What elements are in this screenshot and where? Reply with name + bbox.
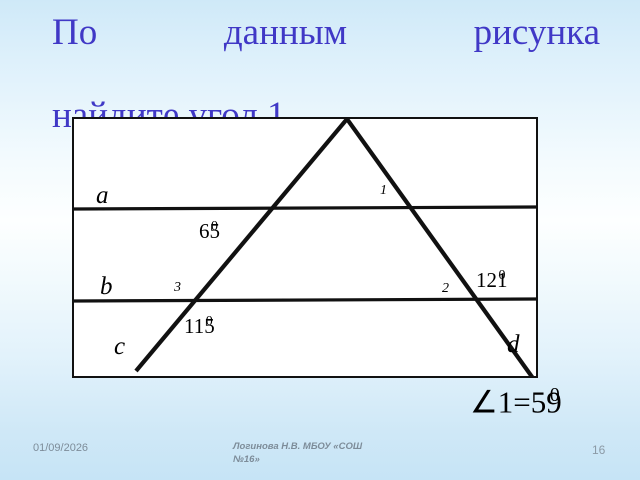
angle-label-2: 2 — [442, 282, 449, 296]
degree-symbol: 0 — [211, 219, 218, 234]
geometry-figure-svg — [74, 119, 536, 376]
degree-symbol: 0 — [550, 384, 560, 406]
line-label-c: c — [114, 334, 125, 359]
answer-angle-sign: ∠ — [470, 384, 498, 419]
line-b — [74, 299, 536, 301]
angle-value-65: 650 — [199, 220, 218, 242]
angle-value-121: 1210 — [476, 269, 506, 291]
answer-text: ∠1=590 — [470, 385, 560, 417]
degree-symbol: 0 — [499, 268, 506, 283]
line-label-a: a — [96, 183, 109, 208]
line-label-d: d — [507, 332, 520, 357]
line-label-b: b — [100, 274, 113, 299]
line-c — [136, 119, 347, 371]
line-a — [74, 207, 536, 209]
degree-symbol: 0 — [206, 314, 213, 329]
geometry-figure: a b c d 1 2 3 650 1210 1150 — [72, 117, 538, 378]
angle-label-3: 3 — [174, 281, 181, 295]
footer-date: 01/09/2026 — [33, 442, 88, 454]
angle-value-115: 1150 — [184, 315, 213, 337]
footer-slide-number: 16 — [592, 443, 605, 457]
angle-label-1: 1 — [380, 184, 387, 198]
page-title-line-1: По данным рисунка — [52, 12, 600, 95]
footer-author: Логинова Н.В. МБОУ «СОШ №16» — [233, 441, 383, 467]
